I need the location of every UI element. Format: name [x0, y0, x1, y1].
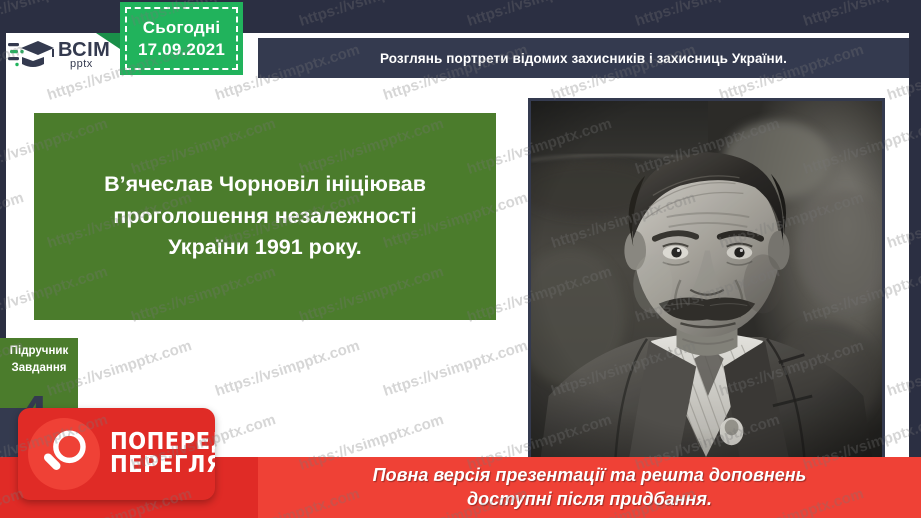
- preview-badge-line-2: ПЕРЕГЛЯД: [110, 454, 215, 477]
- statement-line-3: України 1991 року.: [168, 232, 362, 263]
- presentation-slide: ВСІМ pptx Сьогодні 17.09.2021 Розглянь п…: [0, 0, 921, 518]
- bottom-banner-line-1: Повна версія презентації та решта доповн…: [373, 464, 807, 487]
- header-bar: Розглянь портрети відомих захисників і з…: [258, 38, 909, 78]
- logo-subtitle: pptx: [70, 59, 110, 69]
- bottom-banner: Повна версія презентації та решта доповн…: [258, 457, 921, 518]
- bottom-banner-line-2: доступні після придбання.: [467, 488, 712, 511]
- logo-name: ВСІМ: [58, 41, 110, 59]
- graduation-cap-icon: [8, 38, 54, 72]
- today-label: Сьогодні: [143, 18, 221, 38]
- task-block-line-2: Завдання: [12, 360, 67, 377]
- page-title: Розглянь портрети відомих захисників і з…: [380, 51, 787, 66]
- portrait-photo: [528, 98, 885, 460]
- preview-badge-line-1: ПОПЕРЕДНІЙ: [110, 431, 215, 454]
- task-block-line-1: Підручник: [10, 343, 68, 360]
- watermark-text: https://vsimpptx.com: [297, 0, 446, 30]
- today-date: 17.09.2021: [138, 40, 225, 60]
- statement-box: В’ячеслав Чорновіл ініціював проголошенн…: [34, 113, 496, 320]
- preview-watermark-badge: ПОПЕРЕДНІЙ ПЕРЕГЛЯД: [18, 408, 215, 500]
- statement-line-2: проголошення незалежності: [113, 201, 416, 232]
- watermark-text: https://vsimpptx.com: [465, 0, 614, 30]
- magnifier-icon: [28, 418, 100, 490]
- watermark-text: https://vsimpptx.com: [0, 0, 110, 30]
- statement-line-1: В’ячеслав Чорновіл ініціював: [104, 169, 426, 200]
- watermark-text: https://vsimpptx.com: [801, 0, 921, 30]
- watermark-text: https://vsimpptx.com: [633, 0, 782, 30]
- today-badge: Сьогодні 17.09.2021: [120, 2, 243, 75]
